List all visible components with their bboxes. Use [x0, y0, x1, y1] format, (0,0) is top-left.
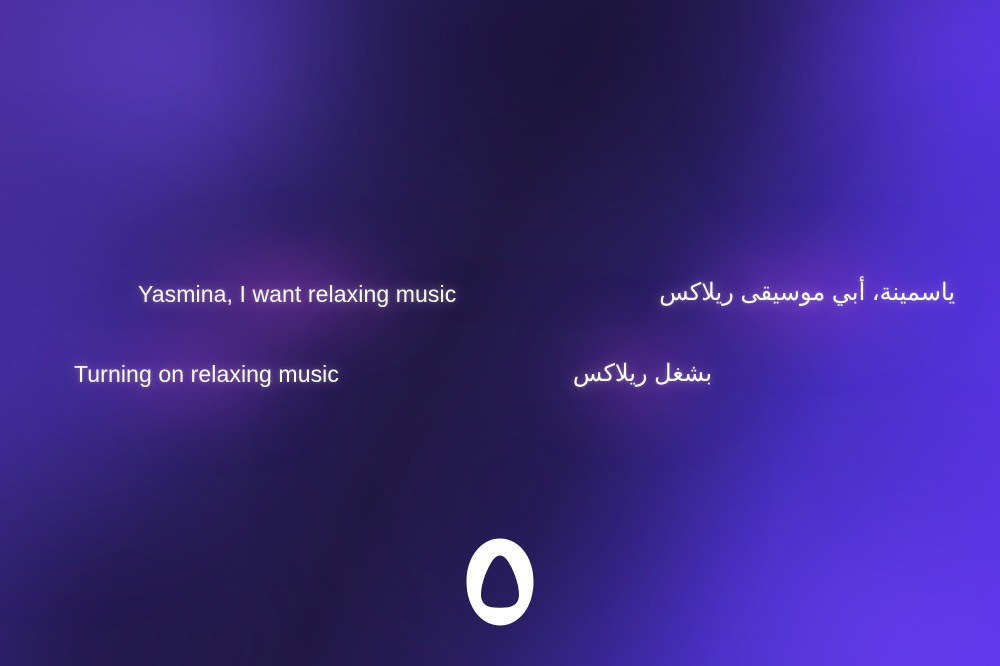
yasmina-logo [466, 538, 534, 626]
voice-assistant-screen: Yasmina, I want relaxing music Turning o… [0, 0, 1000, 666]
background-blob-top-center-dark [240, 0, 860, 270]
caption-english-assistant: Turning on relaxing music [74, 361, 339, 389]
background-blob-bottom-right [620, 440, 1000, 666]
background-blob-right-middle [820, 130, 1000, 550]
yasmina-logo-icon [466, 538, 534, 626]
background-blob-left-middle [0, 150, 290, 570]
caption-arabic-user: ياسمينة، أبي موسيقى ريلاكس [659, 279, 955, 308]
background-blob-top-right [700, 0, 1000, 250]
caption-english-user: Yasmina, I want relaxing music [138, 281, 456, 309]
background-blob-bottom-left-dark [0, 440, 380, 666]
caption-arabic-assistant: بشغل ريلاكس [573, 360, 712, 389]
background-blob-top-left [0, 0, 430, 270]
